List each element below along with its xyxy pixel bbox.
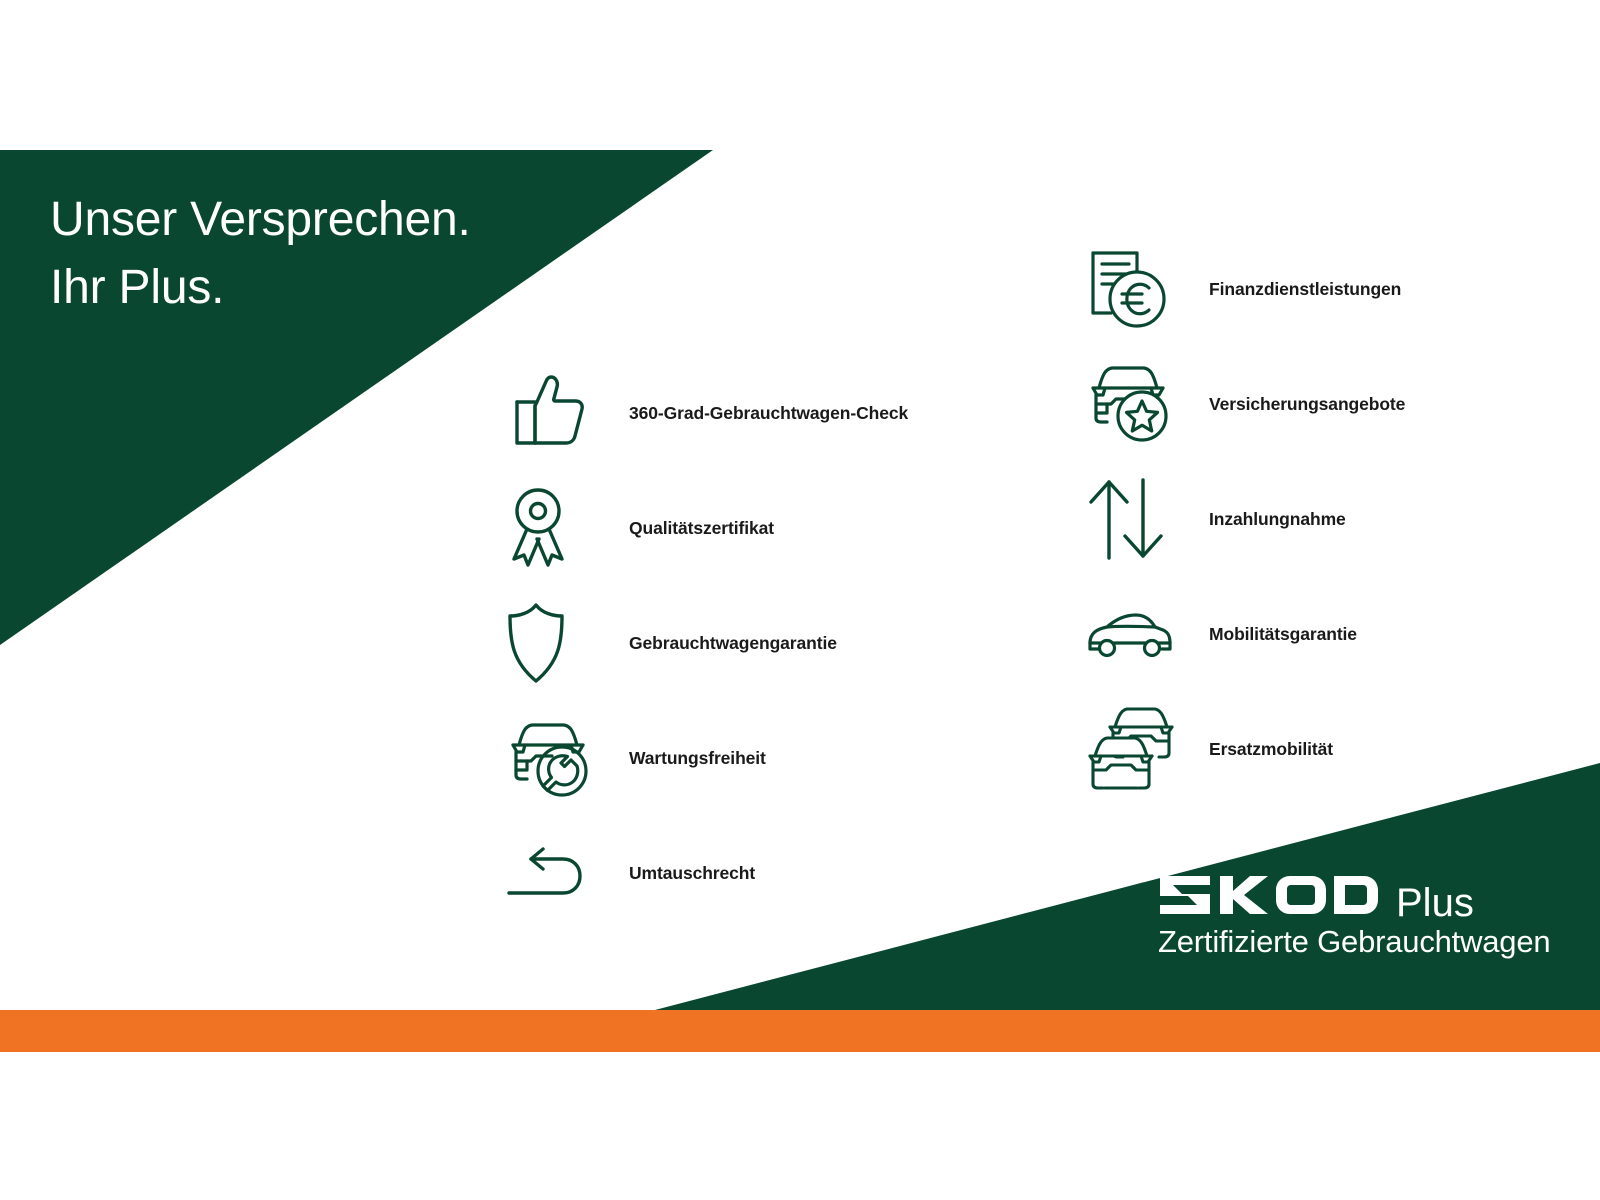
benefit-label: Wartungsfreiheit	[629, 748, 766, 769]
skoda-plus-logo: Plus Zertifizierte Gebrauchtwagen	[1158, 874, 1550, 958]
thumbs-up-icon	[505, 368, 597, 458]
benefit-item: Umtauschrecht	[505, 828, 908, 918]
benefit-item: Versicherungsangebote	[1085, 359, 1405, 449]
logo-plus-text: Plus	[1396, 883, 1474, 923]
benefit-item: Ersatzmobilität	[1085, 704, 1405, 794]
benefit-item: Wartungsfreiheit	[505, 713, 908, 803]
benefit-label: 360-Grad-Gebrauchtwagen-Check	[629, 403, 908, 424]
shield-icon	[505, 598, 597, 688]
benefit-item: Inzahlungnahme	[1085, 474, 1405, 564]
benefit-label: Umtauschrecht	[629, 863, 755, 884]
benefit-label: Ersatzmobilität	[1209, 739, 1333, 760]
benefit-item: Finanzdienstleistungen	[1085, 244, 1405, 334]
logo-tagline: Zertifizierte Gebrauchtwagen	[1158, 925, 1550, 958]
benefit-label: Finanzdienstleistungen	[1209, 279, 1401, 300]
benefit-label: Inzahlungnahme	[1209, 509, 1346, 530]
benefit-item: Mobilitätsgarantie	[1085, 589, 1405, 679]
car-wrench-icon	[505, 713, 597, 803]
award-rosette-icon	[505, 483, 597, 573]
benefit-item: 360-Grad-Gebrauchtwagen-Check	[505, 368, 908, 458]
benefit-label: Gebrauchtwagengarantie	[629, 633, 837, 654]
document-euro-icon	[1085, 244, 1177, 334]
logo-wordmark-row: Plus	[1158, 874, 1550, 918]
benefit-item: Gebrauchtwagengarantie	[505, 598, 908, 688]
benefit-label: Versicherungsangebote	[1209, 394, 1405, 415]
benefit-label: Mobilitätsgarantie	[1209, 624, 1357, 645]
car-star-icon	[1085, 359, 1177, 449]
up-down-arrows-icon	[1085, 474, 1177, 564]
two-cars-icon	[1085, 704, 1177, 794]
benefits-right-column: Finanzdienstleistungen Versicherungsange…	[1085, 244, 1405, 794]
benefit-item: Qualitätszertifikat	[505, 483, 908, 573]
orange-accent-bar	[0, 1010, 1600, 1052]
car-side-icon	[1085, 589, 1177, 679]
skoda-plus-banner: Unser Versprechen. Ihr Plus. 360-Grad-Ge…	[0, 0, 1600, 1200]
benefits-left-column: 360-Grad-Gebrauchtwagen-Check Qualitätsz…	[505, 368, 908, 918]
page-title: Unser Versprechen. Ihr Plus.	[50, 186, 670, 322]
return-arrow-icon	[505, 828, 597, 918]
benefit-label: Qualitätszertifikat	[629, 518, 774, 539]
skoda-wordmark-icon	[1158, 874, 1382, 916]
